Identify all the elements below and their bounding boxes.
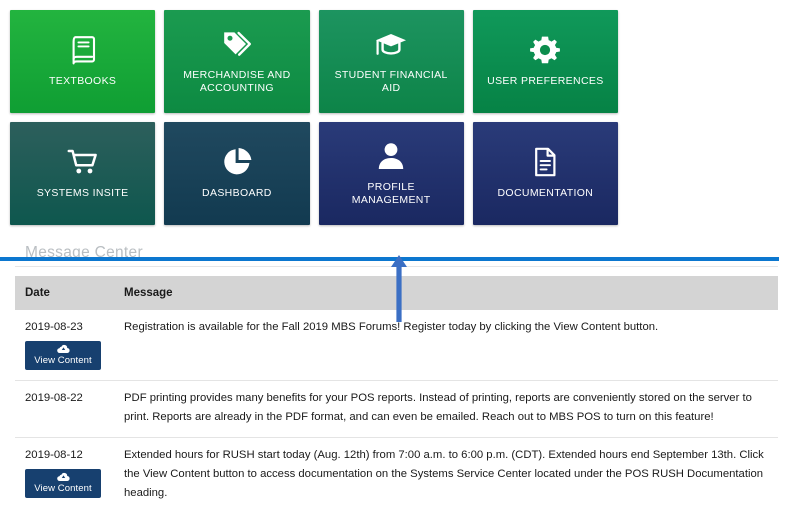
view-content-label: View Content [34, 355, 92, 366]
tile-label: SYSTEMS INSITE [37, 187, 129, 201]
tile-label: MERCHANDISE AND ACCOUNTING [173, 69, 301, 96]
document-icon [532, 142, 558, 182]
cloud-download-icon [57, 344, 70, 354]
message-date: 2019-08-12 [25, 446, 114, 465]
view-content-button[interactable]: View Content [25, 341, 101, 370]
cell-date: 2019-08-23 View Content [15, 310, 114, 381]
view-content-label: View Content [34, 483, 92, 494]
column-header-message: Message [114, 276, 778, 310]
tile-label: DOCUMENTATION [498, 187, 594, 201]
tile-label: USER PREFERENCES [487, 75, 603, 89]
table-body: 2019-08-23 View Content Registration [15, 310, 778, 508]
tile-textbooks[interactable]: TEXTBOOKS [10, 10, 155, 113]
tile-label: STUDENT FINANCIAL AID [327, 69, 455, 96]
cell-message: PDF printing provides many benefits for … [114, 381, 778, 438]
module-tile-grid: TEXTBOOKS MERCHANDISE AND ACCOUNTING [10, 10, 618, 225]
tile-systems-insite[interactable]: SYSTEMS INSITE [10, 122, 155, 225]
tile-merchandise-and-accounting[interactable]: MERCHANDISE AND ACCOUNTING [164, 10, 309, 113]
tags-icon [221, 24, 253, 64]
book-icon [69, 30, 97, 70]
table-row: 2019-08-22 PDF printing provides many be… [15, 381, 778, 438]
column-header-date: Date [15, 276, 114, 310]
view-content-button[interactable]: View Content [25, 469, 101, 498]
tile-user-preferences[interactable]: USER PREFERENCES [473, 10, 618, 113]
tile-profile-management[interactable]: PROFILE MANAGEMENT [319, 122, 464, 225]
cell-message: Registration is available for the Fall 2… [114, 310, 778, 381]
pie-chart-icon [222, 142, 252, 182]
user-icon [377, 136, 405, 176]
tile-student-financial-aid[interactable]: STUDENT FINANCIAL AID [319, 10, 464, 113]
cell-date: 2019-08-22 [15, 381, 114, 438]
tile-dashboard[interactable]: DASHBOARD [164, 122, 309, 225]
cell-message: Extended hours for RUSH start today (Aug… [114, 438, 778, 508]
up-arrow-annotation [388, 254, 410, 322]
shopping-cart-icon [67, 142, 99, 182]
cell-date: 2019-08-12 View Content [15, 438, 114, 508]
gear-icon [530, 30, 560, 70]
tile-label: DASHBOARD [202, 187, 272, 201]
graduation-cap-icon [374, 24, 408, 64]
tile-label: PROFILE MANAGEMENT [327, 181, 455, 208]
message-date: 2019-08-23 [25, 318, 114, 337]
table-row: 2019-08-12 View Content Extended hour [15, 438, 778, 508]
cloud-download-icon [57, 472, 70, 482]
message-date: 2019-08-22 [25, 389, 114, 408]
tile-documentation[interactable]: DOCUMENTATION [473, 122, 618, 225]
dashboard-page: TEXTBOOKS MERCHANDISE AND ACCOUNTING [0, 0, 794, 508]
tile-label: TEXTBOOKS [49, 75, 116, 89]
